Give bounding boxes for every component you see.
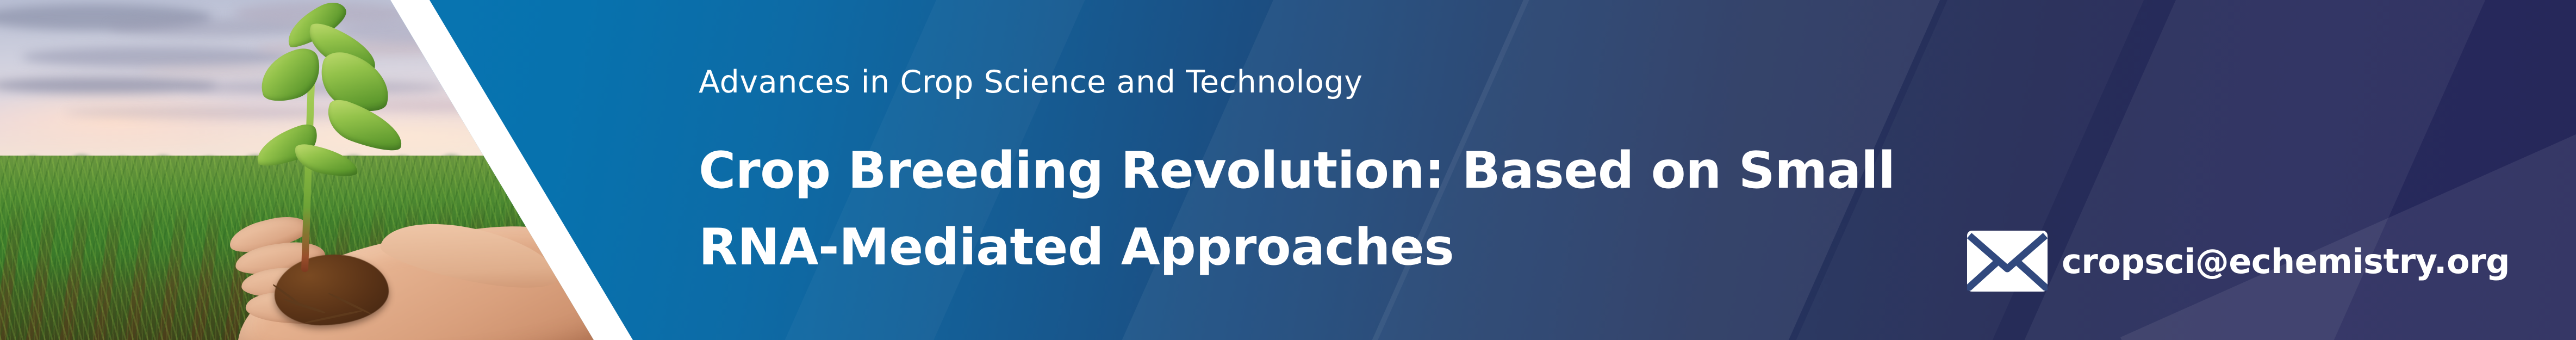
contact-email-text[interactable]: cropsci@echemistry.org — [2062, 242, 2510, 281]
journal-article-banner: Advances in Crop Science and Technology … — [0, 0, 2576, 340]
article-title: Crop Breeding Revolution: Based on Small… — [699, 132, 2047, 286]
journal-subtitle: Advances in Crop Science and Technology — [699, 64, 1363, 100]
cloud — [0, 77, 217, 94]
cloud — [22, 47, 294, 67]
contact-email-row[interactable]: cropsci@echemistry.org — [1967, 231, 2510, 292]
cloud — [65, 107, 370, 119]
envelope-icon — [1967, 231, 2048, 292]
